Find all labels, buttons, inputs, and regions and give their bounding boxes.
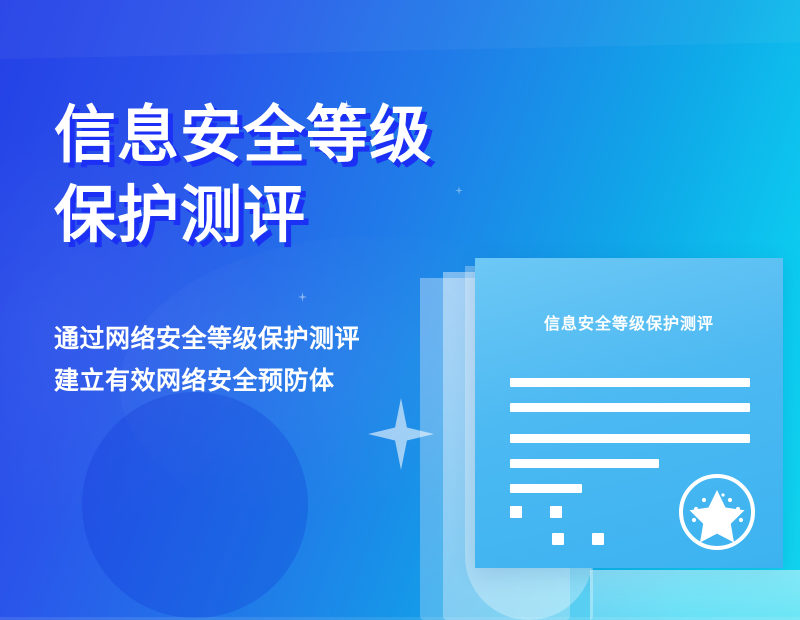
- placeholder-square: [510, 506, 522, 518]
- placeholder-bar: [510, 434, 750, 443]
- document-stack-illustration: 信息安全等级保护测评: [415, 252, 800, 620]
- placeholder-bar: [510, 459, 659, 468]
- placeholder-square: [592, 533, 604, 545]
- document-front-panel: [590, 570, 800, 620]
- sparkle-small-icon: [298, 292, 307, 302]
- headline-line-1: 信息安全等级: [54, 96, 432, 176]
- placeholder-square: [552, 533, 564, 545]
- background-circle-accent: [82, 392, 308, 618]
- placeholder-bar: [510, 378, 750, 387]
- certificate-card: 信息安全等级保护测评: [475, 258, 783, 568]
- sparkle-small-icon: [455, 186, 463, 195]
- placeholder-bar: [510, 403, 750, 412]
- subtitle-line-2: 建立有效网络安全预防体: [54, 360, 360, 402]
- promo-banner: 信息安全等级 保护测评 通过网络安全等级保护测评 建立有效网络安全预防体 信息安…: [0, 0, 800, 620]
- placeholder-bar: [510, 484, 582, 493]
- headline: 信息安全等级 保护测评: [54, 96, 432, 256]
- certificate-title: 信息安全等级保护测评: [475, 310, 783, 334]
- subtitle: 通过网络安全等级保护测评 建立有效网络安全预防体: [54, 318, 360, 402]
- star-seal-icon: [675, 470, 759, 554]
- background-band: [0, 0, 800, 60]
- headline-line-2: 保护测评: [54, 176, 432, 256]
- placeholder-square: [550, 506, 562, 518]
- subtitle-line-1: 通过网络安全等级保护测评: [54, 318, 360, 360]
